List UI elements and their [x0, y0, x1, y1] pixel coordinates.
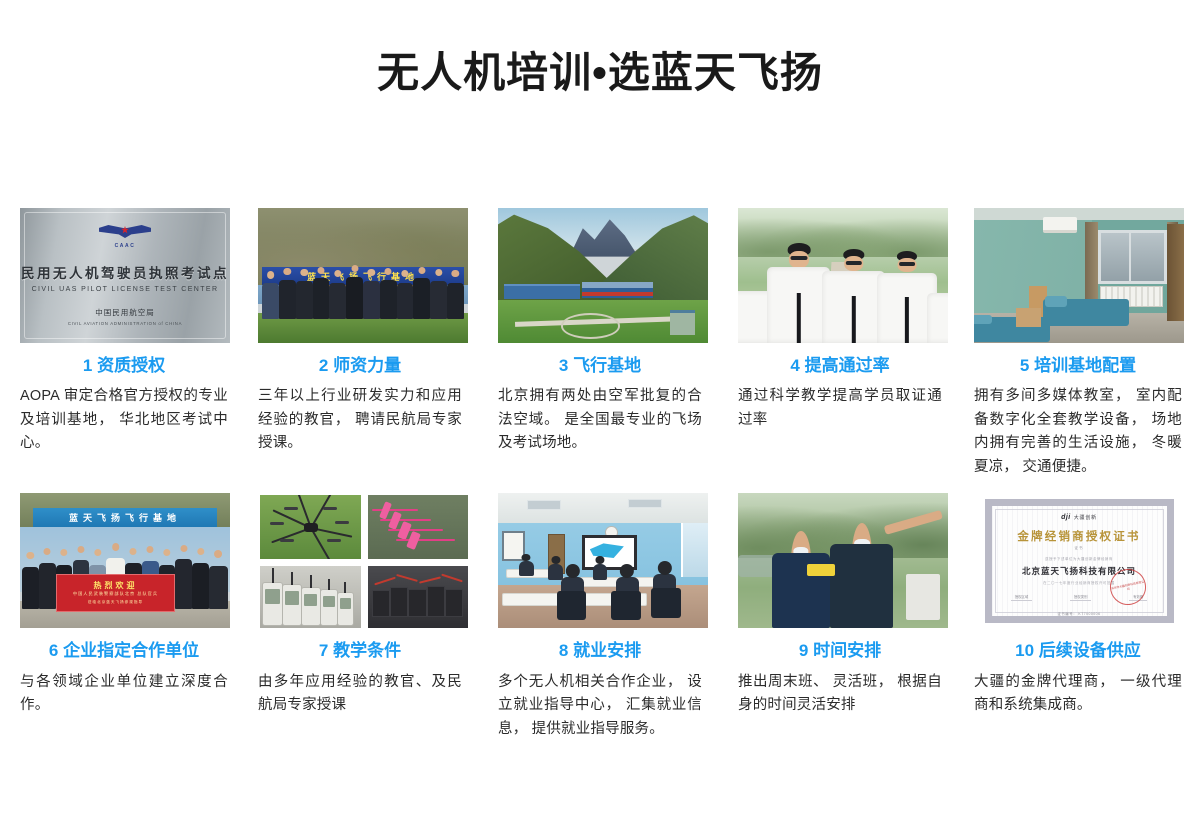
air-conditioner: [1043, 217, 1077, 232]
page-title: 无人机培训•选蓝天飞扬: [0, 0, 1200, 98]
flight-base-valley-aerial-view-image: [498, 208, 708, 343]
feature-row-2: 蓝天飞扬飞行基地 热烈欢迎: [0, 493, 1200, 741]
feature-card-6-body: 与各领域企业单位建立深度合作。: [20, 671, 228, 718]
trainees-group-at-flight-base-image: 蓝天飞扬飞行基地 欢迎各界领导莅临指导 共创辉煌未来: [258, 208, 468, 343]
plaque-chinese-title: 民用无人机驾驶员执照考试点: [21, 262, 229, 282]
feature-card-2-title: 2 师资力量: [258, 356, 462, 376]
welcome-banner-line3: 莅临北京蓝天飞扬参观指导: [57, 600, 175, 605]
classroom-with-students-image: [498, 493, 708, 628]
feature-card-9-body: 推出周末班、 灵活班， 根据自身的时间灵活安排: [738, 671, 942, 718]
feature-card-9[interactable]: 9 时间安排 推出周末班、 灵活班， 根据自身的时间灵活安排: [720, 493, 960, 741]
dji-brand-cn: 大疆创新: [1074, 514, 1097, 521]
base-sign-text: 蓝天飞扬飞行基地: [33, 508, 218, 527]
collage-drone-fleet: [366, 564, 468, 629]
feature-card-1[interactable]: CAAC 民用无人机驾驶员执照考试点 CIVIL UAS PILOT LICEN…: [0, 208, 240, 479]
certificate-title: 金牌经销商授权证书: [1017, 528, 1140, 544]
feature-card-2-body: 三年以上行业研发实力和应用经验的教官， 聘请民航局专家授课。: [258, 385, 462, 455]
feature-card-7-title: 7 教学条件: [258, 641, 462, 661]
certificate-number: 证书编号： KT7000006: [1058, 611, 1101, 616]
feature-card-6[interactable]: 蓝天飞扬飞行基地 热烈欢迎: [0, 493, 240, 741]
feature-card-10-title: 10 后续设备供应: [974, 641, 1182, 661]
welcome-banner: 热烈欢迎 中国人民武装警察部队北京 总队官兵 莅临北京蓝天飞扬参观指导: [56, 574, 176, 612]
dji-brand-en: dji: [1061, 514, 1071, 521]
caac-logo-icon: [99, 222, 151, 242]
feature-card-7-body: 由多年应用经验的教官、及民航局专家授课: [258, 671, 462, 718]
feature-card-9-title: 9 时间安排: [738, 641, 942, 661]
collage-multirotor-drone: [258, 493, 363, 561]
feature-card-10-body: 大疆的金牌代理商， 一级代理商和系统集成商。: [974, 671, 1182, 718]
plaque-authority-en: CIVIL AVIATION ADMINISTRATION of CHINA: [68, 321, 182, 326]
certificate-field-2: 授权类别: [1070, 594, 1092, 601]
pilots-in-white-uniform-image: [738, 208, 948, 343]
caac-logo-label: CAAC: [115, 243, 136, 249]
feature-card-4-title: 4 提高通过率: [738, 356, 942, 376]
feature-card-1-body: AOPA 审定合格官方授权的专业及培训基地， 华北地区考试中心。: [20, 385, 228, 455]
feature-card-5-title: 5 培训基地配置: [974, 356, 1182, 376]
feature-card-4[interactable]: 4 提高通过率 通过科学教学提高学员取证通过率: [720, 208, 960, 479]
instructor-and-student-flying-drone-image: [738, 493, 948, 628]
feature-card-5-body: 拥有多间多媒体教室， 室内配备数字化全套教学设备， 场地内拥有完善的生活设施， …: [974, 385, 1182, 479]
plaque-english-title: CIVIL UAS PILOT LICENSE TEST CENTER: [32, 286, 219, 293]
feature-card-8[interactable]: 8 就业安排 多个无人机相关合作企业， 设立就业指导中心， 汇集就业信息， 提供…: [480, 493, 720, 741]
certificate-line-2: 在二〇一七年度行业经销商授权许可范围: [1043, 580, 1115, 585]
feature-row-1: CAAC 民用无人机驾驶员执照考试点 CIVIL UAS PILOT LICEN…: [0, 208, 1200, 479]
feature-card-3-title: 3 飞行基地: [498, 356, 702, 376]
certificate-line-1: 兹授予下述单位为大疆创新金牌经销商: [1045, 556, 1113, 561]
feature-grid: CAAC 民用无人机驾驶员执照考试点 CIVIL UAS PILOT LICEN…: [0, 208, 1200, 741]
feature-card-3-body: 北京拥有两处由空军批复的合法空域。 是全国最专业的飞场及考试场地。: [498, 385, 702, 455]
feature-card-7[interactable]: 7 教学条件 由多年应用经验的教官、及民航局专家授课: [240, 493, 480, 741]
feature-card-8-body: 多个无人机相关合作企业， 设立就业指导中心， 汇集就业信息， 提供就业指导服务。: [498, 671, 702, 741]
feature-card-10[interactable]: dji 大疆创新 金牌经销商授权证书 证书 兹授予下述单位为大疆创新金牌经销商 …: [960, 493, 1200, 741]
welcome-banner-line1: 热烈欢迎: [57, 580, 175, 591]
feature-card-2[interactable]: 蓝天飞扬飞行基地 欢迎各界领导莅临指导 共创辉煌未来: [240, 208, 480, 479]
feature-card-6-title: 6 企业指定合作单位: [20, 641, 228, 661]
certificate-field-1: 授权区域: [1011, 594, 1033, 601]
feature-card-3[interactable]: 3 飞行基地 北京拥有两处由空军批复的合法空域。 是全国最专业的飞场及考试场地。: [480, 208, 720, 479]
caac-test-center-plaque-image: CAAC 民用无人机驾驶员执照考试点 CIVIL UAS PILOT LICEN…: [20, 208, 230, 343]
feature-card-8-title: 8 就业安排: [498, 641, 702, 661]
feature-card-5[interactable]: 5 培训基地配置 拥有多间多媒体教室， 室内配备数字化全套教学设备， 场地内拥有…: [960, 208, 1200, 479]
plaque-authority-cn: 中国民用航空局: [95, 307, 155, 318]
feature-card-4-body: 通过科学教学提高学员取证通过率: [738, 385, 942, 432]
people-group: [258, 262, 468, 319]
collage-rc-transmitters: [258, 564, 363, 629]
drone-equipment-collage-image: [258, 493, 468, 628]
feature-card-1-title: 1 资质授权: [20, 356, 228, 376]
dji-gold-dealer-certificate-image: dji 大疆创新 金牌经销商授权证书 证书 兹授予下述单位为大疆创新金牌经销商 …: [974, 493, 1184, 628]
certificate-subtitle: 证书: [1074, 546, 1083, 551]
welcome-banner-line2: 中国人民武装警察部队北京 总队官兵: [57, 591, 175, 597]
collage-fixed-wing-planes: [366, 493, 468, 561]
dji-logo: dji 大疆创新: [1061, 514, 1097, 521]
dormitory-room-with-two-beds-image: [974, 208, 1184, 343]
group-photo-with-welcome-banner-image: 蓝天飞扬飞行基地 热烈欢迎: [20, 493, 230, 628]
